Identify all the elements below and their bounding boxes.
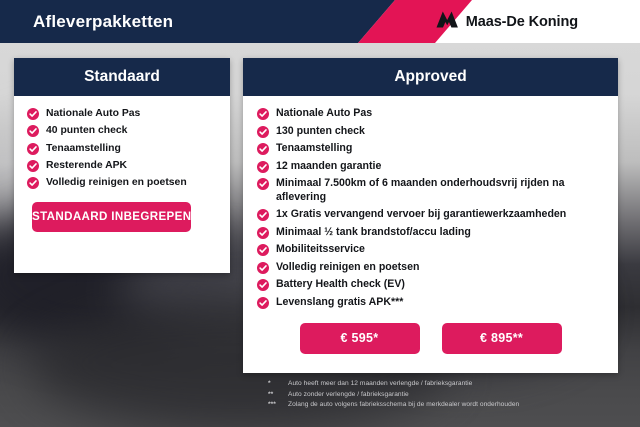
list-item: Volledig reinigen en poetsen xyxy=(27,176,217,189)
list-item: Levenslang gratis APK*** xyxy=(257,296,604,310)
check-circle-icon xyxy=(257,297,269,309)
feature-label: Levenslang gratis APK*** xyxy=(276,296,403,310)
feature-label: Resterende APK xyxy=(46,159,127,172)
feature-label: Mobiliteitsservice xyxy=(276,243,365,257)
card-body-standaard: Nationale Auto Pas 40 punten check xyxy=(14,96,230,232)
list-item: 1x Gratis vervangend vervoer bij garanti… xyxy=(257,208,604,222)
check-circle-icon xyxy=(257,108,269,120)
feature-list-standaard: Nationale Auto Pas 40 punten check xyxy=(27,107,217,190)
footnote-text: Auto heeft meer dan 12 maanden verlengde… xyxy=(288,379,472,390)
list-item: Battery Health check (EV) xyxy=(257,278,604,292)
feature-label: 12 maanden garantie xyxy=(276,160,381,174)
feature-label: Tenaamstelling xyxy=(46,142,121,155)
maas-de-koning-m-logo-icon xyxy=(436,11,458,33)
promo-graphic: Afleverpakketten Maas-De Koning Standaar… xyxy=(0,0,640,427)
check-circle-icon xyxy=(257,143,269,155)
check-circle-icon xyxy=(27,108,39,120)
check-circle-icon xyxy=(257,262,269,274)
footnote-marker: ** xyxy=(268,390,282,401)
standaard-inbegrepen-button[interactable]: STANDAARD INBEGREPEN xyxy=(32,202,191,232)
card-title-approved: Approved xyxy=(243,58,618,96)
feature-label: Minimaal ½ tank brandstof/accu lading xyxy=(276,226,471,240)
feature-label: Nationale Auto Pas xyxy=(276,107,372,121)
feature-label: Tenaamstelling xyxy=(276,142,352,156)
list-item: 12 maanden garantie xyxy=(257,160,604,174)
footnote-item: * Auto heeft meer dan 12 maanden verleng… xyxy=(268,379,628,390)
list-item: Nationale Auto Pas xyxy=(257,107,604,121)
check-circle-icon xyxy=(257,279,269,291)
list-item: 130 punten check xyxy=(257,125,604,139)
list-item: Mobiliteitsservice xyxy=(257,243,604,257)
check-circle-icon xyxy=(257,126,269,138)
card-title-standaard: Standaard xyxy=(14,58,230,96)
check-circle-icon xyxy=(257,161,269,173)
list-item: Nationale Auto Pas xyxy=(27,107,217,120)
feature-list-approved: Nationale Auto Pas 130 punten check xyxy=(257,107,604,310)
feature-label: 40 punten check xyxy=(46,124,127,137)
feature-label: 1x Gratis vervangend vervoer bij garanti… xyxy=(276,208,566,222)
list-item: Tenaamstelling xyxy=(27,142,217,155)
check-circle-icon xyxy=(27,177,39,189)
footnote-marker: * xyxy=(268,379,282,390)
price-button-895[interactable]: € 895** xyxy=(442,323,562,354)
price-button-row: € 595* € 895** xyxy=(257,323,604,360)
feature-label: 130 punten check xyxy=(276,125,365,139)
brand-name: Maas-De Koning xyxy=(466,14,578,30)
package-card-standaard: Standaard Nationale Auto Pas xyxy=(14,58,230,273)
check-circle-icon xyxy=(257,227,269,239)
list-item: Minimaal ½ tank brandstof/accu lading xyxy=(257,226,604,240)
brand-lockup: Maas-De Koning xyxy=(436,0,578,43)
check-circle-icon xyxy=(257,244,269,256)
package-card-approved: Approved Nationale Auto Pas xyxy=(243,58,618,373)
price-button-595[interactable]: € 595* xyxy=(300,323,420,354)
list-item: Resterende APK xyxy=(27,159,217,172)
check-circle-icon xyxy=(27,160,39,172)
list-item: 40 punten check xyxy=(27,124,217,137)
page-header: Afleverpakketten Maas-De Koning xyxy=(0,0,640,43)
check-circle-icon xyxy=(257,178,269,190)
list-item: Minimaal 7.500km of 6 maanden onderhouds… xyxy=(257,177,604,204)
list-item: Volledig reinigen en poetsen xyxy=(257,261,604,275)
feature-label: Minimaal 7.500km of 6 maanden onderhouds… xyxy=(276,177,604,204)
page-title: Afleverpakketten xyxy=(33,0,173,43)
check-circle-icon xyxy=(257,209,269,221)
footnote-marker: *** xyxy=(268,400,282,411)
footnotes: * Auto heeft meer dan 12 maanden verleng… xyxy=(268,379,628,411)
footnote-item: *** Zolang de auto volgens fabrieksschem… xyxy=(268,400,628,411)
footnote-item: ** Auto zonder verlengde / fabrieksgaran… xyxy=(268,390,628,401)
card-body-approved: Nationale Auto Pas 130 punten check xyxy=(243,96,618,360)
feature-label: Nationale Auto Pas xyxy=(46,107,140,120)
footnote-text: Zolang de auto volgens fabrieksschema bi… xyxy=(288,400,519,411)
feature-label: Battery Health check (EV) xyxy=(276,278,405,292)
list-item: Tenaamstelling xyxy=(257,142,604,156)
check-circle-icon xyxy=(27,143,39,155)
footnote-text: Auto zonder verlengde / fabrieksgarantie xyxy=(288,390,409,401)
feature-label: Volledig reinigen en poetsen xyxy=(46,176,187,189)
feature-label: Volledig reinigen en poetsen xyxy=(276,261,419,275)
check-circle-icon xyxy=(27,125,39,137)
